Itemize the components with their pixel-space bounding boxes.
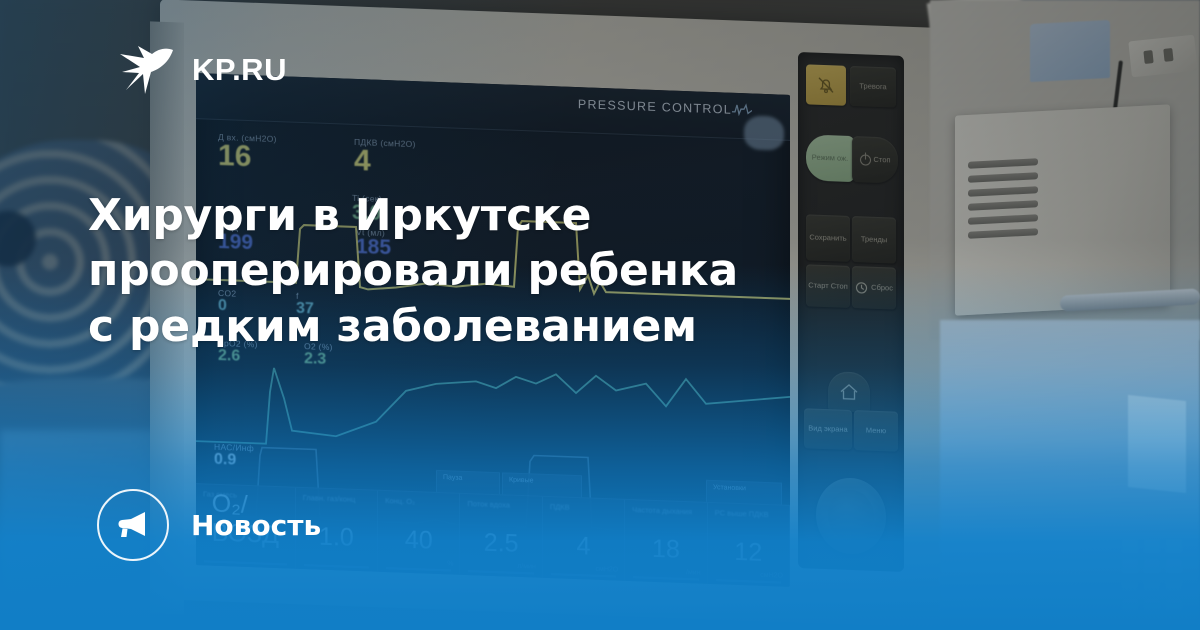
brand-name: KP.RU (192, 52, 287, 88)
headline-line-3: с редким заболеванием (88, 299, 848, 354)
brand-logo[interactable]: KP.RU (112, 38, 287, 102)
news-card: PRESSURE CONTROL Д вх. (смН2О) 16 ПДКВ (… (0, 0, 1200, 630)
megaphone-icon (114, 509, 152, 541)
page-title: Хирурги в Иркутске прооперировали ребенк… (88, 188, 848, 354)
badge-icon-ring (97, 489, 169, 561)
status-badge[interactable]: Новость (97, 489, 321, 561)
swallow-bird-icon (112, 38, 176, 102)
badge-label: Новость (191, 509, 321, 542)
headline-line-1: Хирурги в Иркутске (88, 188, 848, 243)
headline-line-2: прооперировали ребенка (88, 243, 848, 298)
